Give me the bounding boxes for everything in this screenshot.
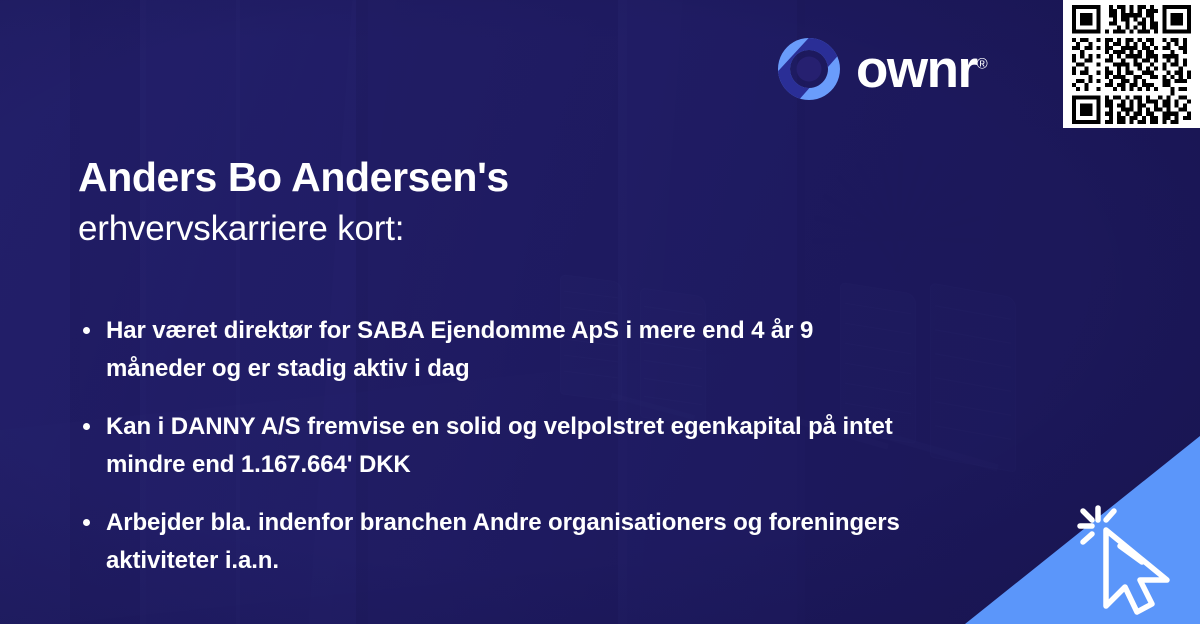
page-title: Anders Bo Andersen's erhvervskarriere ko… bbox=[78, 152, 898, 252]
business-card-banner: ownr® bbox=[0, 0, 1200, 624]
ownr-circle-mark-icon bbox=[776, 36, 842, 102]
ownr-wordmark-text: ownr bbox=[856, 40, 977, 99]
bullet-dot-icon bbox=[83, 327, 90, 334]
bullet-dot-icon bbox=[83, 423, 90, 430]
ownr-logo[interactable]: ownr® bbox=[776, 36, 988, 102]
qr-code-icon bbox=[1072, 5, 1191, 124]
list-item: Arbejder bla. indenfor branchen Andre or… bbox=[78, 504, 908, 580]
ownr-wordmark: ownr® bbox=[856, 43, 988, 96]
list-item-text: Har været direktør for SABA Ejendomme Ap… bbox=[106, 317, 813, 382]
bullet-dot-icon bbox=[83, 519, 90, 526]
career-highlights-list: Har været direktør for SABA Ejendomme Ap… bbox=[78, 312, 908, 579]
list-item-text: Kan i DANNY A/S fremvise en solid og vel… bbox=[106, 413, 893, 478]
list-item-text: Arbejder bla. indenfor branchen Andre or… bbox=[106, 509, 900, 574]
headline-line-2: erhvervskarriere kort: bbox=[78, 206, 898, 252]
list-item: Har været direktør for SABA Ejendomme Ap… bbox=[78, 312, 908, 388]
click-cursor-icon bbox=[1072, 500, 1194, 622]
qr-code-panel[interactable] bbox=[1063, 0, 1200, 128]
headline-line-1: Anders Bo Andersen's bbox=[78, 152, 898, 202]
registered-mark-icon: ® bbox=[977, 55, 988, 72]
list-item: Kan i DANNY A/S fremvise en solid og vel… bbox=[78, 408, 908, 484]
